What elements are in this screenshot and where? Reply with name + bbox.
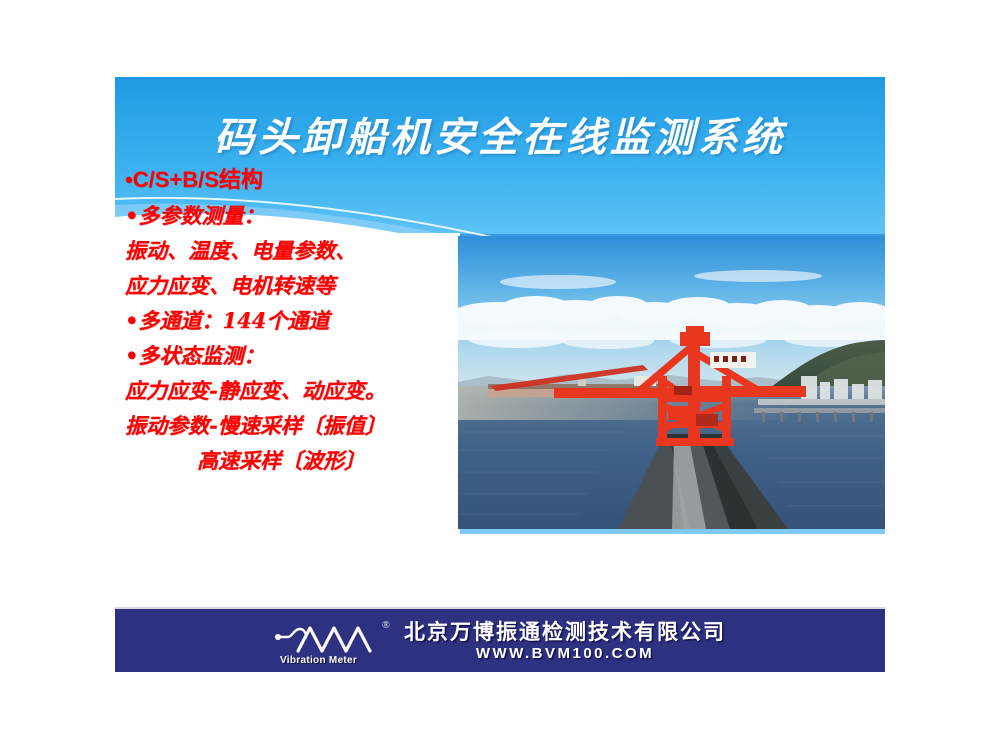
bullet-item: •多参数测量： bbox=[125, 205, 470, 226]
company-name: 北京万博振通检测技术有限公司 bbox=[404, 621, 726, 643]
bullet-item: 应力应变-静应变、动应变。 bbox=[125, 380, 470, 401]
slide-canvas: 码头卸船机安全在线监测系统 •C/S+B/S结构 •多参数测量： 振动、温度、电… bbox=[115, 77, 885, 672]
bullet-item: 振动参数-慢速采样〔振值〕 bbox=[125, 415, 470, 436]
harbor-crane-photo bbox=[458, 236, 885, 529]
bullet-item: 振动、温度、电量参数、 bbox=[125, 240, 470, 261]
bullet-list: •C/S+B/S结构 •多参数测量： 振动、温度、电量参数、 应力应变、电机转速… bbox=[125, 169, 470, 485]
slide-title: 码头卸船机安全在线监测系统 bbox=[115, 105, 885, 163]
bullet-item: 应力应变、电机转速等 bbox=[125, 275, 470, 296]
footer-bar: ® Vibration Meter 北京万博振通检测技术有限公司 WWW.BVM… bbox=[115, 607, 885, 672]
bullet-item: •多通道：144个通道 bbox=[125, 310, 470, 331]
footer-text-block: 北京万博振通检测技术有限公司 WWW.BVM100.COM bbox=[404, 621, 726, 661]
registered-trademark-icon: ® bbox=[382, 619, 390, 631]
bullet-item: •多状态监测： bbox=[125, 345, 470, 366]
logo-caption: Vibration Meter bbox=[280, 655, 357, 666]
company-website: WWW.BVM100.COM bbox=[404, 645, 726, 662]
bullet-item: •C/S+B/S结构 bbox=[125, 169, 470, 191]
vibration-wave-logo-icon: ® Vibration Meter bbox=[274, 619, 392, 665]
bullet-item: 高速采样〔波形〕 bbox=[125, 450, 470, 471]
